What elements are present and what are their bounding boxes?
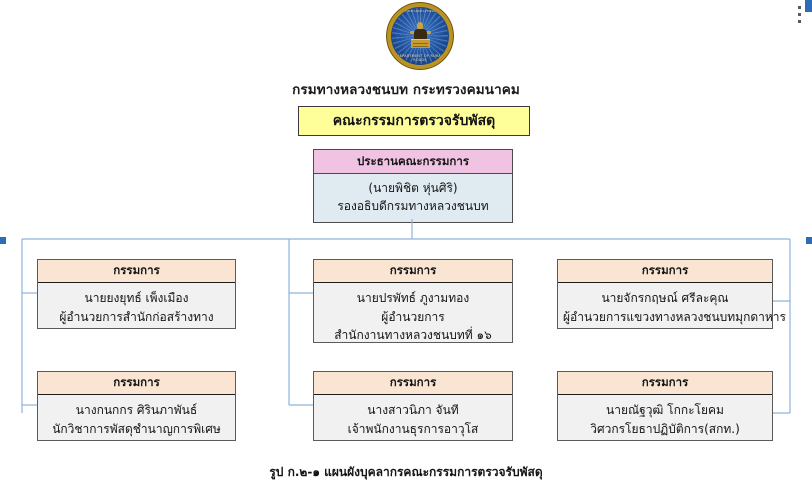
member-box-left-row1: กรรมการ นายยงยุทธ์ เพ็งเมือง ผู้อำนวยการ… bbox=[37, 259, 236, 329]
ministry-line: กรมทางหลวงชนบท กระทรวงคมนาคม bbox=[0, 78, 812, 100]
emblem-text-top: กรมทางหลวงชนบท bbox=[391, 10, 449, 13]
member-details: นายณัฐวุฒิ โกกะโยคม วิศวกรโยธาปฏิบัติการ… bbox=[558, 395, 772, 446]
emblem-blue-field: กรมทางหลวงชนบท DEPARTMENT OF RURAL ROADS bbox=[391, 7, 449, 65]
selection-handle-right[interactable] bbox=[806, 237, 812, 244]
member-role-label: กรรมการ bbox=[558, 260, 772, 283]
member-box-left-row2: กรรมการ นางกนกกร ศิรินภาพันธ์ นักวิชาการ… bbox=[37, 371, 236, 441]
emblem-figure-base bbox=[411, 39, 430, 48]
member-box-center-row2: กรรมการ นางสาวนิภา จันที เจ้าพนักงานธุรก… bbox=[313, 371, 513, 441]
chairman-box: ประธานคณะกรรมการ (นายพิชิต หุ่นศิริ) รอง… bbox=[313, 149, 513, 223]
member-role-label: กรรมการ bbox=[558, 372, 772, 395]
chart-title-box: คณะกรรมการตรวจรับพัสดุ bbox=[298, 106, 530, 136]
member-position-line1: วิศวกรโยธาปฏิบัติการ(สกท.) bbox=[563, 420, 767, 439]
figure-caption: รูป ก.๒-๑ แผนผังบุคลากรคณะกรรมการตรวจรับ… bbox=[0, 463, 812, 482]
selection-handle-top-right[interactable] bbox=[805, 0, 812, 12]
member-position-line1: นักวิชาการพัสดุชำนาญการพิเศษ bbox=[43, 420, 230, 439]
department-emblem-icon: กรมทางหลวงชนบท DEPARTMENT OF RURAL ROADS bbox=[386, 2, 454, 70]
member-position-line1: ผู้อำนวยการ bbox=[319, 308, 507, 327]
member-name: นางกนกกร ศิรินภาพันธ์ bbox=[43, 401, 230, 420]
member-box-right-row1: กรรมการ นายจักรกฤษณ์ ศรีละคุณ ผู้อำนวยกา… bbox=[557, 259, 773, 329]
member-role-label: กรรมการ bbox=[314, 372, 512, 395]
member-details: นายยงยุทธ์ เพ็งเมือง ผู้อำนวยการสำนักก่อ… bbox=[38, 283, 235, 334]
member-position-line1: เจ้าพนักงานธุรการอาวุโส bbox=[319, 420, 507, 439]
member-name: นายณัฐวุฒิ โกกะโยคม bbox=[563, 401, 767, 420]
chairman-name: (นายพิชิต หุ่นศิริ) bbox=[318, 179, 508, 197]
kebab-dot bbox=[798, 20, 801, 23]
emblem-text-bottom: DEPARTMENT OF RURAL ROADS bbox=[391, 55, 449, 62]
member-position-line2: สำนักงานทางหลวงชนบทที่ ๑๖ bbox=[319, 326, 507, 345]
member-name: นางสาวนิภา จันที bbox=[319, 401, 507, 420]
member-role-label: กรรมการ bbox=[38, 260, 235, 283]
kebab-menu-icon[interactable] bbox=[792, 6, 806, 40]
member-role-label: กรรมการ bbox=[38, 372, 235, 395]
selection-handle-left[interactable] bbox=[0, 237, 6, 244]
member-details: นายจักรกฤษณ์ ศรีละคุณ ผู้อำนวยการแขวงทาง… bbox=[558, 283, 772, 334]
kebab-dot bbox=[798, 13, 801, 16]
chairman-details: (นายพิชิต หุ่นศิริ) รองอธิบดีกรมทางหลวงช… bbox=[314, 174, 512, 222]
member-position-line1: ผู้อำนวยการแขวงทางหลวงชนบทมุกดาหาร bbox=[563, 308, 767, 327]
member-position-line1: ผู้อำนวยการสำนักก่อสร้างทาง bbox=[43, 308, 230, 327]
chart-title-label: คณะกรรมการตรวจรับพัสดุ bbox=[333, 110, 495, 132]
emblem-figure-icon bbox=[409, 22, 431, 48]
member-box-right-row2: กรรมการ นายณัฐวุฒิ โกกะโยคม วิศวกรโยธาปฏ… bbox=[557, 371, 773, 441]
chairman-role-label: ประธานคณะกรรมการ bbox=[314, 150, 512, 174]
member-details: นางสาวนิภา จันที เจ้าพนักงานธุรการอาวุโส bbox=[314, 395, 512, 446]
member-box-center-row1: กรรมการ นายปรพัทธ์ ภูงามทอง ผู้อำนวยการ … bbox=[313, 259, 513, 343]
org-chart-page: กรมทางหลวงชนบท DEPARTMENT OF RURAL ROADS… bbox=[0, 0, 812, 495]
member-details: นางกนกกร ศิรินภาพันธ์ นักวิชาการพัสดุชำน… bbox=[38, 395, 235, 446]
chairman-position: รองอธิบดีกรมทางหลวงชนบท bbox=[318, 197, 508, 215]
member-name: นายปรพัทธ์ ภูงามทอง bbox=[319, 289, 507, 308]
kebab-dot bbox=[798, 6, 801, 9]
member-details: นายปรพัทธ์ ภูงามทอง ผู้อำนวยการ สำนักงาน… bbox=[314, 283, 512, 353]
member-name: นายจักรกฤษณ์ ศรีละคุณ bbox=[563, 289, 767, 308]
member-name: นายยงยุทธ์ เพ็งเมือง bbox=[43, 289, 230, 308]
member-role-label: กรรมการ bbox=[314, 260, 512, 283]
